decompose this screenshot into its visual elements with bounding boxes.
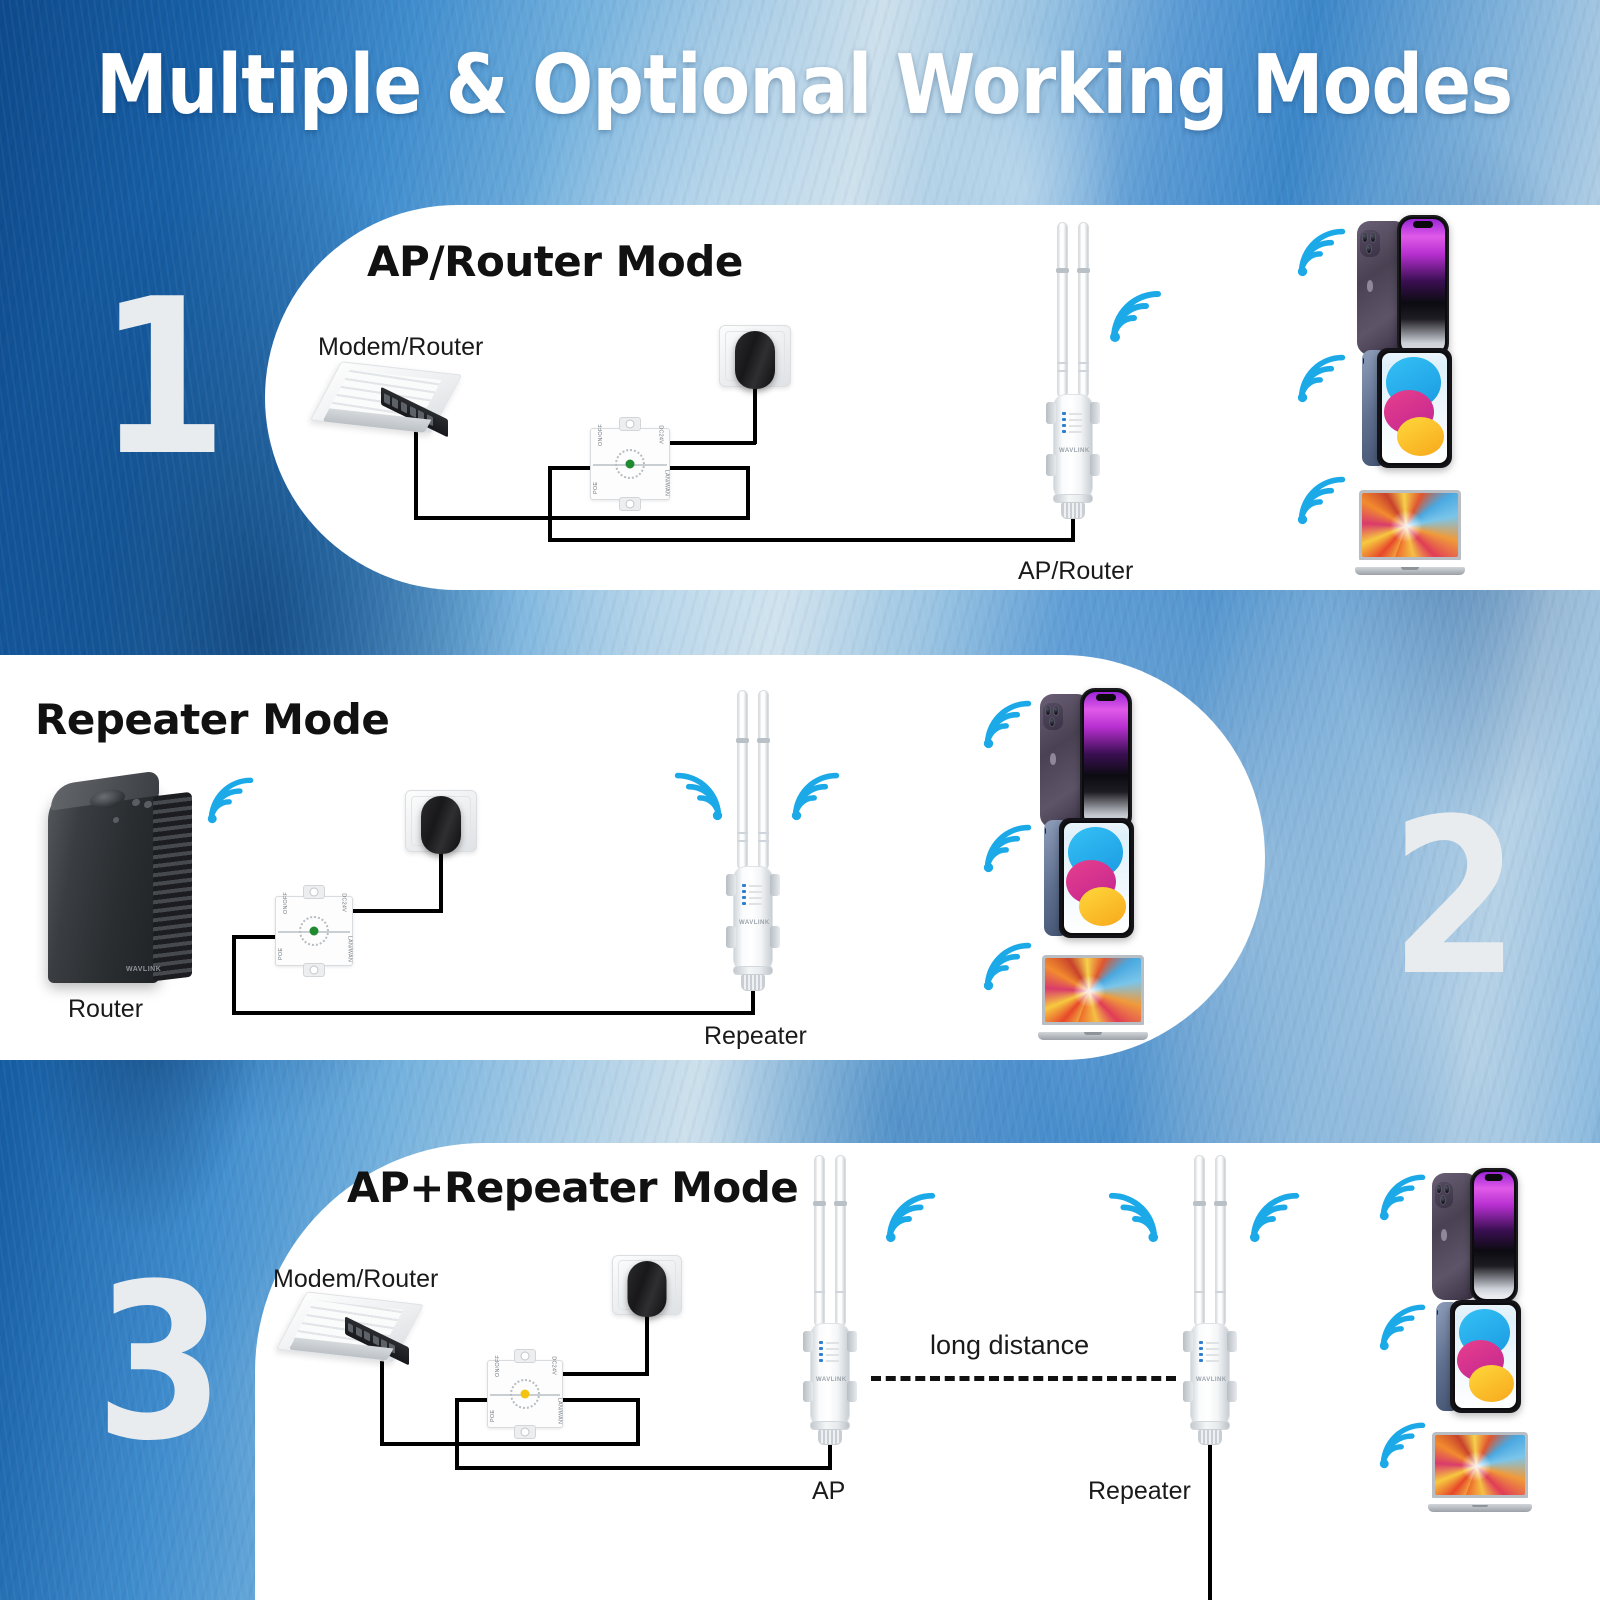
modem-router-device-3 (288, 1298, 412, 1376)
poe-label-lan-3: LAN/WAN (556, 1398, 562, 1424)
poe-label-poe-1: POE (593, 482, 599, 494)
poe-label-dc-2: DC24V (341, 893, 347, 912)
client-phone-2 (1040, 688, 1132, 831)
step-number-3: 3 (95, 1255, 224, 1470)
wifi-icon-router-2 (206, 775, 256, 830)
step-number-2: 2 (1390, 790, 1519, 1005)
wifi-icon-ap-3a (884, 1190, 938, 1249)
wire-poe-to-ap-3 (455, 1466, 832, 1470)
outdoor-ap-device-1: WAVLINK (1040, 222, 1106, 517)
wifi-icon-client-phone-2 (982, 698, 1034, 755)
poe-label-dc-1: DC24V (658, 425, 664, 444)
poe-label-poe-2: POE (278, 948, 284, 960)
wifi-icon-ap-1 (1108, 288, 1164, 349)
poe-injector-2: ON/OFF DC24V POE LAN/WAN (275, 896, 353, 966)
outdoor-ap-device-3a: WAVLINK (798, 1155, 862, 1445)
poe-led-2 (310, 927, 319, 936)
label-modem-router-3: Modem/Router (273, 1265, 438, 1294)
wire-modem-right-1 (414, 516, 750, 520)
client-laptop-2 (1038, 955, 1148, 1040)
wire-poe-down-1 (548, 466, 552, 542)
client-tablet-2 (1044, 818, 1134, 938)
wifi-icon-client-tablet-3 (1378, 1302, 1428, 1357)
wire-adapter-down-1 (753, 385, 757, 444)
ap-brand-logo-3b: WAVLINK (1196, 1377, 1227, 1383)
wifi-icon-client-laptop-2 (982, 940, 1034, 997)
step-number-1: 1 (98, 270, 227, 485)
wifi-icon-repeater-right-3 (1248, 1190, 1302, 1249)
poe-led-3 (521, 1390, 530, 1399)
wire-poe-out-2 (232, 935, 280, 939)
client-laptop-3 (1428, 1432, 1532, 1512)
wifi-icon-client-phone-1 (1296, 226, 1348, 283)
client-phone-3 (1432, 1168, 1518, 1303)
wire-lan-in-3 (562, 1398, 640, 1402)
wire-adapter-down-3 (645, 1313, 649, 1375)
wire-poe-down-3 (455, 1398, 459, 1470)
label-ap-router-1: AP/Router (1018, 557, 1133, 586)
router-brand-logo-2: WAVLINK (126, 966, 161, 973)
page-title: Multiple & Optional Working Modes (96, 38, 1504, 133)
mode-title-repeater: Repeater Mode (35, 695, 389, 744)
mode-title-ap-repeater: AP+Repeater Mode (347, 1163, 798, 1212)
outdoor-ap-device-2: WAVLINK (720, 690, 786, 990)
poe-label-poe-3: POE (490, 1410, 496, 1422)
wire-poe-to-ap-1 (548, 538, 1075, 542)
wifi-icon-client-laptop-1 (1296, 474, 1348, 531)
label-long-distance-3: long distance (930, 1330, 1089, 1361)
wire-lan-up-3 (636, 1398, 640, 1446)
wire-poe-out-1 (548, 466, 594, 470)
client-phone-1 (1357, 215, 1449, 358)
wifi-icon-client-laptop-3 (1378, 1420, 1428, 1475)
client-tablet-3 (1436, 1300, 1521, 1413)
wifi-icon-client-tablet-2 (982, 822, 1034, 879)
wall-socket-2 (405, 790, 477, 852)
ap-brand-logo-3a: WAVLINK (816, 1377, 847, 1383)
ap-brand-logo-2: WAVLINK (739, 920, 770, 926)
wire-poe-to-repeater-2 (232, 1011, 755, 1015)
client-tablet-1 (1362, 348, 1452, 468)
mesh-router-device-2: WAVLINK (48, 778, 198, 983)
wifi-icon-repeater-left-2 (672, 770, 724, 827)
label-repeater-3: Repeater (1088, 1477, 1191, 1506)
label-modem-router-1: Modem/Router (318, 333, 483, 362)
wall-socket-1 (719, 325, 791, 387)
poe-label-lan-2: LAN/WAN (346, 936, 352, 962)
poe-label-dc-3: DC24V (551, 1356, 557, 1375)
poe-label-onoff-3: ON/OFF (495, 1355, 501, 1377)
wire-adapter-to-dc-1 (668, 441, 756, 445)
modem-router-device-1 (322, 368, 450, 448)
long-distance-dashed-link (871, 1376, 1176, 1381)
wifi-icon-client-phone-3 (1378, 1172, 1428, 1227)
wire-repeater-down-3 (1208, 1440, 1212, 1600)
label-ap-3: AP (812, 1477, 845, 1506)
wire-modem-right-3 (380, 1442, 640, 1446)
label-repeater-2: Repeater (704, 1022, 807, 1051)
wire-poe-down-2 (232, 935, 236, 1015)
poe-led-1 (626, 460, 635, 469)
wall-socket-3 (612, 1255, 682, 1315)
wifi-icon-repeater-right-2 (790, 770, 842, 827)
poe-injector-3: ON/OFF DC24V POE LAN/WAN (487, 1360, 563, 1428)
mode-title-ap-router: AP/Router Mode (367, 237, 743, 286)
wifi-icon-repeater-left-3 (1106, 1190, 1160, 1249)
wire-lan-in-1 (668, 466, 750, 470)
wire-lan-up-1 (746, 466, 750, 520)
poe-label-onoff-2: ON/OFF (283, 892, 289, 914)
wifi-icon-client-tablet-1 (1296, 352, 1348, 409)
wire-poe-out-3 (455, 1398, 491, 1402)
poe-label-onoff-1: ON/OFF (598, 424, 604, 446)
wire-adapter-to-dc-3 (562, 1372, 649, 1376)
poe-label-lan-1: LAN/WAN (663, 470, 669, 496)
poe-injector-1: ON/OFF DC24V POE LAN/WAN (590, 428, 670, 500)
ap-brand-logo-1: WAVLINK (1059, 448, 1090, 454)
label-router-2: Router (68, 995, 143, 1024)
wire-adapter-to-dc-2 (351, 909, 443, 913)
wire-adapter-down-2 (439, 850, 443, 912)
client-laptop-1 (1355, 490, 1465, 575)
outdoor-ap-device-3b: WAVLINK (1178, 1155, 1242, 1445)
